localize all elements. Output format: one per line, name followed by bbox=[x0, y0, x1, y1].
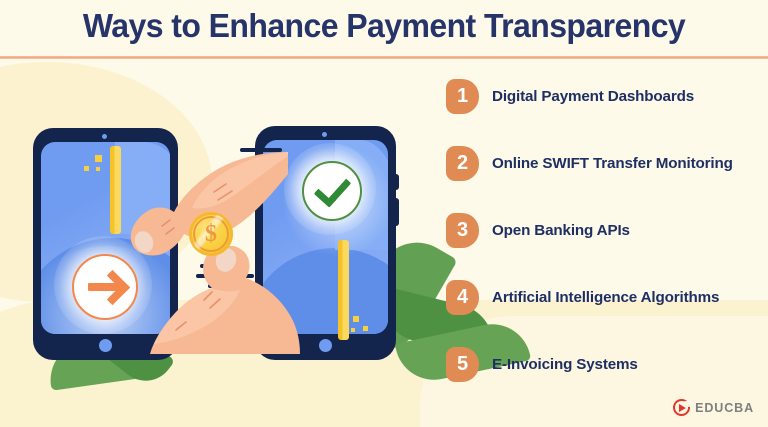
list-item[interactable]: 1 Digital Payment Dashboards bbox=[446, 78, 758, 114]
phone-home-button bbox=[319, 339, 332, 352]
pixel-square-icon bbox=[84, 166, 89, 171]
header: Ways to Enhance Payment Transparency bbox=[0, 0, 768, 58]
list-item-number-badge: 1 bbox=[446, 79, 479, 114]
phone-side-button bbox=[394, 198, 399, 226]
transparency-list: 1 Digital Payment Dashboards 2 Online SW… bbox=[446, 78, 758, 413]
pixel-square-icon bbox=[351, 328, 355, 332]
list-item-label: Digital Payment Dashboards bbox=[492, 88, 694, 105]
list-item-label: Artificial Intelligence Algorithms bbox=[492, 289, 719, 306]
phone-camera-icon bbox=[322, 132, 327, 137]
yellow-bar-right bbox=[338, 240, 349, 340]
list-item-number-badge: 2 bbox=[446, 146, 479, 181]
receiving-hand bbox=[150, 246, 300, 356]
phone-side-button bbox=[394, 174, 399, 190]
pixel-square-icon bbox=[363, 326, 368, 331]
list-item-number-badge: 4 bbox=[446, 280, 479, 315]
list-item-label: Online SWIFT Transfer Monitoring bbox=[492, 155, 733, 172]
pixel-square-icon bbox=[95, 155, 102, 162]
list-item[interactable]: 4 Artificial Intelligence Algorithms bbox=[446, 279, 758, 315]
list-item[interactable]: 5 E-Invoicing Systems bbox=[446, 346, 758, 382]
pixel-square-icon bbox=[353, 316, 359, 322]
pixel-square-icon bbox=[96, 167, 100, 171]
infographic-canvas: $ Ways to Enhance Payment Transparency 1… bbox=[0, 0, 768, 427]
educba-logo[interactable]: EDUCBA bbox=[673, 399, 754, 416]
page-title: Ways to Enhance Payment Transparency bbox=[12, 7, 757, 45]
phone-camera-icon bbox=[102, 134, 107, 139]
list-item[interactable]: 2 Online SWIFT Transfer Monitoring bbox=[446, 145, 758, 181]
educba-logo-icon bbox=[673, 399, 690, 416]
check-circle-icon bbox=[302, 161, 362, 221]
list-item-number-badge: 3 bbox=[446, 213, 479, 248]
list-item-number-badge: 5 bbox=[446, 347, 479, 382]
title-divider bbox=[0, 56, 768, 59]
list-item-label: E-Invoicing Systems bbox=[492, 356, 638, 373]
list-item[interactable]: 3 Open Banking APIs bbox=[446, 212, 758, 248]
dollar-coin-icon: $ bbox=[189, 212, 233, 256]
educba-logo-text: EDUCBA bbox=[695, 401, 754, 415]
list-item-label: Open Banking APIs bbox=[492, 222, 630, 239]
phone-home-button bbox=[99, 339, 112, 352]
